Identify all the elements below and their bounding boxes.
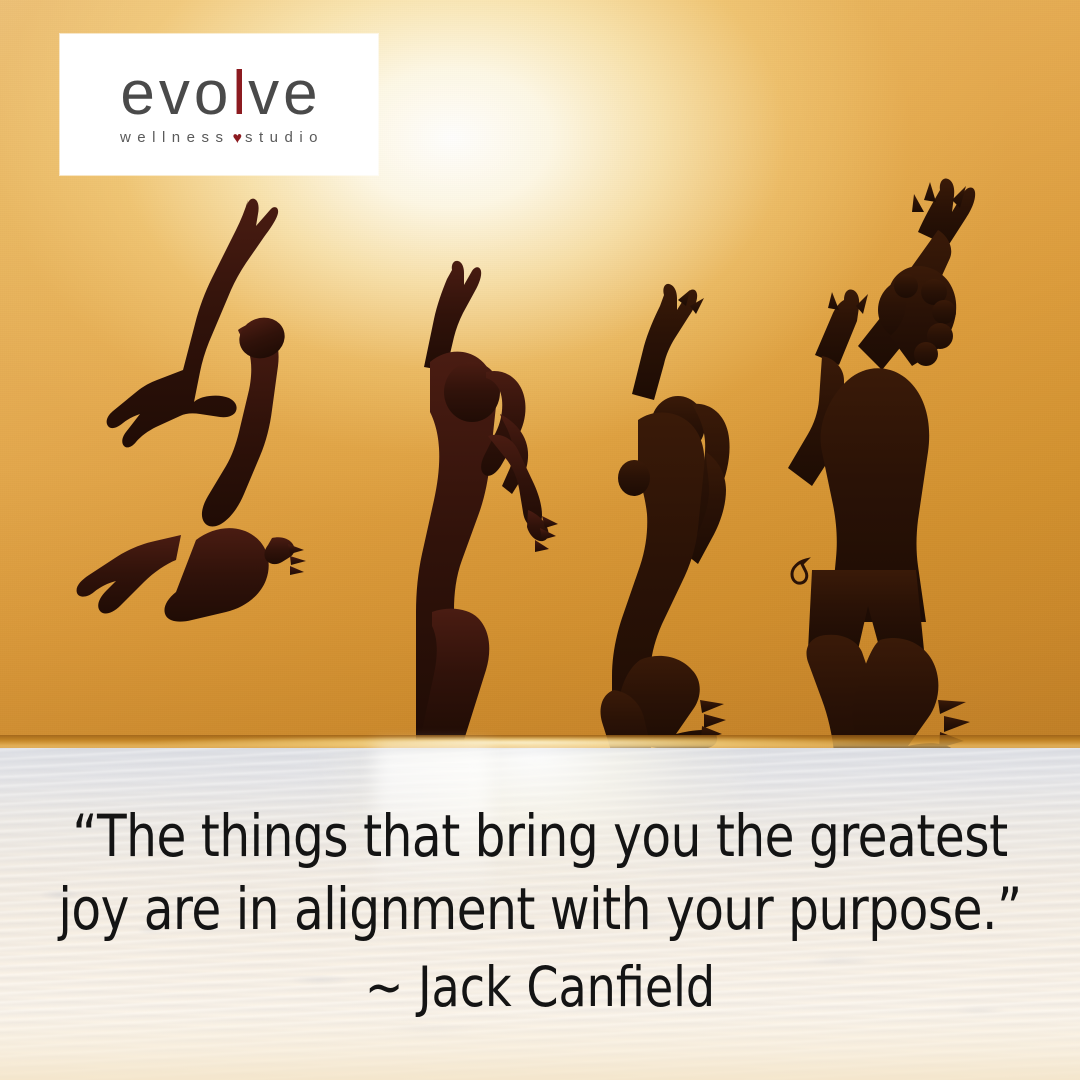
quote-block: “The things that bring you the greatest …	[0, 800, 1080, 1022]
figure-3-silhouette	[601, 284, 730, 760]
logo-tagline-right: studio	[245, 129, 324, 146]
logo-tagline-left: wellness	[120, 129, 230, 146]
logo-tagline: wellness ♥ studio	[114, 129, 324, 147]
horizon-sun-glint	[140, 737, 900, 748]
brand-logo[interactable]: evolve wellness ♥ studio	[60, 34, 378, 175]
quote-line-1: “The things that bring you the greatest	[38, 800, 1042, 873]
figure-1-silhouette	[77, 199, 306, 622]
quote-line-2: joy are in alignment with your purpose.”	[38, 873, 1042, 946]
logo-word-part-1: evo	[120, 59, 232, 128]
logo-word-part-2: ve	[248, 59, 321, 128]
quote-poster: evolve wellness ♥ studio “The things tha…	[0, 0, 1080, 1080]
quote-attribution: ~ Jack Canfield	[38, 952, 1042, 1022]
logo-wordmark: evolve	[116, 63, 321, 125]
heart-icon: ♥	[233, 130, 243, 148]
logo-accent-letter: l	[232, 59, 248, 128]
figure-4-silhouette	[788, 179, 975, 760]
figure-2-silhouette	[416, 261, 558, 740]
